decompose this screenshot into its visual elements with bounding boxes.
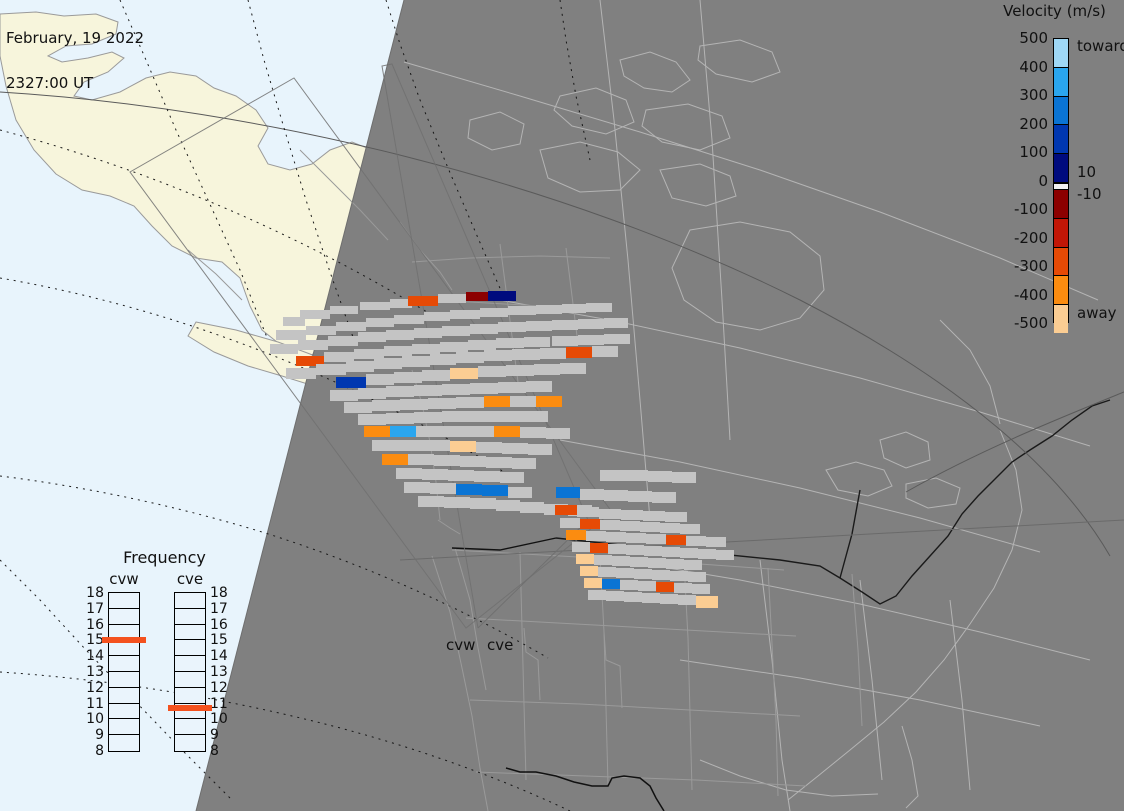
ground-scatter-cell [402,356,430,367]
ground-scatter-cell [418,496,444,507]
frequency-marker-cvw [102,637,146,643]
colorbar-tick--300: -300 [1014,257,1048,275]
frequency-tick-18: 18 [86,585,104,601]
velocity-cell [576,554,594,564]
frequency-cell [109,672,139,688]
ground-scatter-cell [372,440,398,451]
frequency-cell [175,593,205,609]
velocity-cell [590,543,608,553]
station-label-cvw: cvw [446,636,475,654]
ground-scatter-cell [624,592,642,602]
ground-scatter-cell [394,315,424,324]
ground-scatter-cell [476,442,502,453]
ground-scatter-cell [520,427,546,438]
ground-scatter-cell [510,396,536,407]
velocity-cell [482,485,508,496]
superdarn-velocity-map: February, 19 2022 2327:00 UT cvw cve Fre… [0,0,1124,811]
ground-scatter-cell [336,322,366,331]
frequency-legend: Frequency cvw cve 18171615141312111098 1… [82,548,247,798]
velocity-cell [494,426,520,437]
colorbar-tick-400: 400 [1019,58,1048,76]
frequency-tick-15: 15 [210,632,228,648]
colorbar-tick--400: -400 [1014,286,1048,304]
ground-scatter-cell [330,306,358,314]
ground-scatter-cell [680,524,700,534]
ground-scatter-cell [478,366,506,377]
ground-scatter-cell [588,590,606,600]
ground-scatter-cell [626,545,644,555]
frequency-tick-9: 9 [95,727,104,743]
ground-scatter-cell [316,364,346,375]
velocity-cell [584,578,602,588]
ground-scatter-cell [642,593,660,603]
frequency-tick-8: 8 [210,743,219,759]
ground-scatter-cell [486,457,512,468]
ground-scatter-cell [448,470,474,481]
ground-scatter-cell [496,338,524,348]
colorbar-tick--500: -500 [1014,314,1048,332]
ground-scatter-cell [638,581,656,591]
ground-scatter-cell [578,319,604,329]
frequency-cell [109,719,139,735]
ground-scatter-cell [328,336,358,346]
frequency-tick-18: 18 [210,585,228,601]
ground-scatter-cell [366,318,394,327]
ground-scatter-cell [698,549,716,559]
velocity-cell [450,368,478,379]
ground-scatter-cell [470,324,498,334]
frequency-cell [175,672,205,688]
colorbar-tick-200: 200 [1019,115,1048,133]
colorbar-inner-high-label: 10 [1077,163,1096,181]
ground-scatter-cell [444,497,470,508]
ground-scatter-cell [480,308,508,317]
ground-scatter-cell [434,455,460,466]
ground-scatter-cell [374,358,402,369]
frequency-tick-12: 12 [210,680,228,696]
ground-scatter-cell [672,472,696,483]
frequency-cell [175,640,205,656]
ground-scatter-cell [604,318,628,328]
ground-scatter-cell [496,411,522,422]
colorbar-tick-0: 0 [1038,172,1048,190]
velocity-cell [696,596,718,608]
ground-scatter-cell [540,348,566,359]
colorbar-tick-300: 300 [1019,86,1048,104]
ground-scatter-cell [430,354,456,365]
ground-scatter-cell [648,471,672,482]
ground-scatter-cell [496,500,520,511]
ground-scatter-cell [646,534,666,544]
ground-scatter-cell [546,428,570,439]
ground-scatter-cell [598,567,616,577]
ground-scatter-cell [536,305,562,314]
velocity-cell [450,441,476,452]
frequency-tick-14: 14 [210,648,228,664]
ground-scatter-cell [330,390,358,401]
ground-scatter-cell [498,322,526,332]
ground-scatter-cell [384,346,412,356]
colorbar-swatch-3 [1054,125,1068,154]
ground-scatter-cell [612,556,630,566]
frequency-tick-13: 13 [86,664,104,680]
velocity-cell [666,535,686,545]
colorbar-tick-100: 100 [1019,143,1048,161]
ground-scatter-cell [506,365,534,376]
velocity-cell [364,426,390,437]
ground-scatter-cell [422,370,450,381]
ground-scatter-cell [440,342,468,352]
velocity-cell [602,579,620,589]
ground-scatter-cell [684,560,702,570]
ground-scatter-cell [526,321,552,331]
ground-scatter-cell [604,334,630,344]
velocity-cell [408,296,438,306]
ground-scatter-cell [398,440,424,451]
ground-scatter-cell [424,312,450,321]
ground-scatter-cell [678,595,696,605]
velocity-cell [555,505,577,515]
ground-scatter-cell [414,328,442,338]
ground-scatter-cell [621,510,643,520]
frequency-tick-14: 14 [86,648,104,664]
frequency-cell [109,704,139,720]
ground-scatter-cell [599,509,621,519]
ground-scatter-cell [306,326,336,335]
colorbar-swatch-1 [1054,68,1068,97]
frequency-tick-17: 17 [86,601,104,617]
colorbar-swatch-9 [1054,305,1068,333]
colorbar-swatch-0 [1054,39,1068,68]
ground-scatter-cell [344,402,372,413]
ground-scatter-cell [470,411,496,422]
ground-scatter-cell [404,482,430,493]
ground-scatter-cell [298,340,328,350]
ground-scatter-cell [606,532,626,542]
ground-scatter-cell [586,303,612,312]
ground-scatter-cell [688,572,706,582]
colorbar-swatch-6 [1054,219,1068,248]
frequency-cell [175,656,205,672]
frequency-tick-16: 16 [86,617,104,633]
ground-scatter-cell [386,330,414,340]
ground-scatter-cell [620,580,638,590]
colorbar-tick--200: -200 [1014,229,1048,247]
ground-scatter-cell [648,558,666,568]
frequency-ticks-cve: 18171615141312111098 [210,548,240,798]
ground-scatter-cell [442,326,470,336]
ground-scatter-cell [512,458,536,469]
ground-scatter-cell [586,531,606,541]
ground-scatter-cell [660,594,678,604]
velocity-cell [456,484,482,495]
ground-scatter-cell [416,426,442,437]
radar-site-marker [484,626,491,633]
ground-scatter-cell [508,487,532,498]
colorbar-tick--100: -100 [1014,200,1048,218]
frequency-tick-10: 10 [210,711,228,727]
velocity-cell [390,426,416,437]
frequency-tick-11: 11 [210,696,228,712]
ground-scatter-cell [502,443,528,454]
ground-scatter-cell [706,537,726,547]
ground-scatter-cell [460,456,486,467]
ground-scatter-cell [674,583,692,593]
ground-scatter-cell [358,388,386,399]
velocity-cell [580,566,598,576]
ground-scatter-cell [560,518,580,528]
frequency-tick-8: 8 [95,743,104,759]
colorbar-tick-500: 500 [1019,29,1048,47]
ground-scatter-cell [662,547,680,557]
timestamp-date: February, 19 2022 [6,31,144,46]
colorbar-inner-low-label: -10 [1077,185,1102,203]
velocity-cell [580,519,600,529]
ground-scatter-cell [524,337,550,347]
ground-scatter-cell [414,385,442,396]
ground-scatter-cell [604,490,628,501]
ground-scatter-cell [442,384,470,395]
ground-scatter-cell [660,523,680,533]
ground-scatter-cell [552,320,578,330]
ground-scatter-cell [358,414,386,425]
ground-scatter-cell [665,512,687,522]
ground-scatter-cell [470,383,498,394]
ground-scatter-cell [500,472,524,483]
ground-scatter-cell [412,344,440,354]
ground-scatter-cell [628,491,652,502]
frequency-cell [109,593,139,609]
colorbar-zero-gap [1054,183,1068,190]
ground-scatter-cell [430,483,456,494]
ground-scatter-cell [716,550,734,560]
ground-scatter-cell [414,412,442,423]
ground-scatter-cell [670,571,688,581]
ground-scatter-cell [616,568,634,578]
ground-scatter-cell [408,454,434,465]
ground-scatter-cell [652,492,676,503]
ground-scatter-cell [592,346,618,357]
ground-scatter-cell [692,584,710,594]
ground-scatter-cell [552,336,578,346]
frequency-cell [109,735,139,751]
frequency-cell [109,688,139,704]
ground-scatter-cell [484,350,512,361]
velocity-cell [556,487,580,498]
ground-scatter-cell [600,470,624,481]
station-label-cve: cve [487,636,513,654]
colorbar-toward-label: toward [1077,37,1124,55]
ground-scatter-cell [396,468,422,479]
velocity-colorbar-panel: Velocity (m/s) 5004003002001000-100-200-… [985,0,1124,811]
ground-scatter-cell [386,413,414,424]
ground-scatter-cell [442,411,470,422]
ground-scatter-cell [474,471,500,482]
ground-scatter-cell [456,352,484,363]
ground-scatter-cell [560,363,586,374]
ground-scatter-cell [600,520,620,530]
frequency-cell [175,609,205,625]
ground-scatter-cell [428,398,456,409]
ground-scatter-cell [422,469,448,480]
ground-scatter-cell [468,426,494,437]
ground-scatter-cell [512,349,540,360]
timestamp-block: February, 19 2022 2327:00 UT [6,1,144,121]
ground-scatter-cell [520,502,544,513]
ground-scatter-cell [324,352,354,362]
velocity-cell [566,530,586,540]
colorbar-swatch-5 [1054,190,1068,219]
ground-scatter-cell [630,557,648,567]
ground-scatter-cell [442,426,468,437]
ground-scatter-cell [300,310,330,319]
ground-scatter-cell [620,521,640,531]
ground-scatter-cell [666,559,684,569]
colorbar-swatch-4 [1054,154,1068,183]
ground-scatter-cell [468,340,496,350]
ground-scatter-cell [572,542,590,552]
colorbar-swatch-2 [1054,97,1068,126]
ground-scatter-cell [354,349,384,359]
ground-scatter-cell [456,397,484,408]
frequency-ticks-cvw: 18171615141312111098 [82,548,104,798]
ground-scatter-cell [450,310,480,319]
velocity-cell [336,377,366,388]
velocity-cell [488,291,516,301]
frequency-gauge-cve [174,592,206,752]
ground-scatter-cell [346,361,374,372]
ground-scatter-cell [624,470,648,481]
ground-scatter-cell [594,555,612,565]
ground-scatter-cell [508,306,536,315]
colorbar-swatch-8 [1054,276,1068,305]
ground-scatter-cell [644,546,662,556]
ground-scatter-cell [562,304,586,313]
ground-scatter-cell [522,411,548,422]
ground-scatter-cell [578,335,604,345]
velocity-cell [566,347,592,358]
ground-scatter-cell [360,302,390,310]
ground-scatter-cell [286,368,316,379]
ground-scatter-cell [528,444,552,455]
ground-scatter-cell [580,489,604,500]
ground-scatter-cell [534,364,560,375]
ground-scatter-cell [372,400,400,411]
ground-scatter-cell [394,372,422,383]
frequency-cell [175,719,205,735]
ground-scatter-cell [526,381,552,392]
ground-scatter-cell [358,332,386,342]
colorbar-away-label: away [1077,304,1117,322]
colorbar-tick-labels: 5004003002001000-100-200-300-400-500 [985,0,1048,811]
ground-scatter-cell [438,294,466,303]
ground-scatter-cell [276,330,306,340]
velocity-cell [656,582,674,592]
velocity-cell [382,454,408,465]
frequency-tick-12: 12 [86,680,104,696]
ground-scatter-cell [634,569,652,579]
ground-scatter-cell [680,548,698,558]
frequency-tick-13: 13 [210,664,228,680]
frequency-cell [175,688,205,704]
ground-scatter-cell [470,498,496,509]
ground-scatter-cell [498,382,526,393]
frequency-cell [175,625,205,641]
frequency-cell [109,609,139,625]
ground-scatter-cell [652,570,670,580]
frequency-tick-9: 9 [210,727,219,743]
ground-scatter-cell [386,386,414,397]
ground-scatter-cell [270,344,298,354]
frequency-tick-10: 10 [86,711,104,727]
ground-scatter-cell [366,374,394,385]
ground-scatter-cell [643,511,665,521]
frequency-cell [109,656,139,672]
ground-scatter-cell [606,591,624,601]
timestamp-time: 2327:00 UT [6,76,144,91]
frequency-gauge-cvw [108,592,140,752]
ground-scatter-cell [626,533,646,543]
frequency-tick-11: 11 [86,696,104,712]
ground-scatter-cell [424,440,450,451]
ground-scatter-cell [400,399,428,410]
frequency-marker-cve [168,705,212,711]
ground-scatter-cell [686,536,706,546]
ground-scatter-cell [577,507,599,517]
colorbar-swatch-7 [1054,248,1068,277]
ground-scatter-cell [608,544,626,554]
ground-scatter-cell [640,522,660,532]
frequency-tick-16: 16 [210,617,228,633]
frequency-tick-17: 17 [210,601,228,617]
velocity-cell [536,396,562,407]
frequency-cell [175,735,205,751]
velocity-cell [484,396,510,407]
colorbar-swatches [1053,38,1069,323]
